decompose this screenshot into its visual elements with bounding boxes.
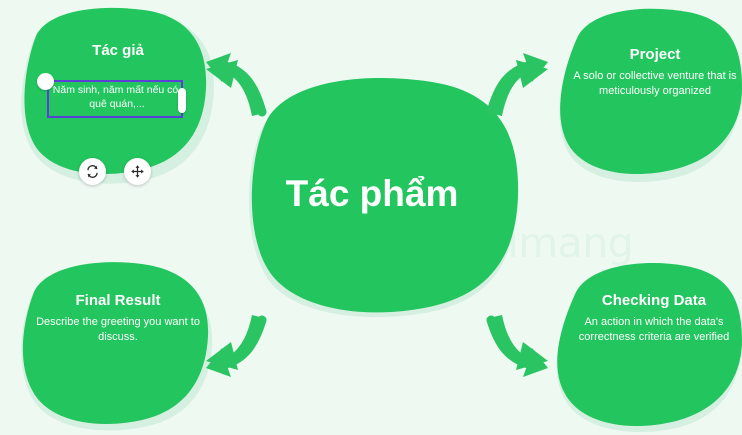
move-icon [130,164,145,179]
mindmap-canvas[interactable]: Quantrimang [0,0,742,435]
selection-handle-right[interactable] [178,88,186,113]
rotate-button[interactable] [79,158,106,185]
author-description-field[interactable]: Năm sinh, năm mất nếu có, quê quán,... [47,80,183,118]
move-button[interactable] [124,158,151,185]
selection-handle-left[interactable] [37,73,54,90]
author-description-value: Năm sinh, năm mất nếu có, quê quán,... [49,83,185,111]
rotate-icon [85,164,100,179]
arrow-layer [0,0,742,435]
